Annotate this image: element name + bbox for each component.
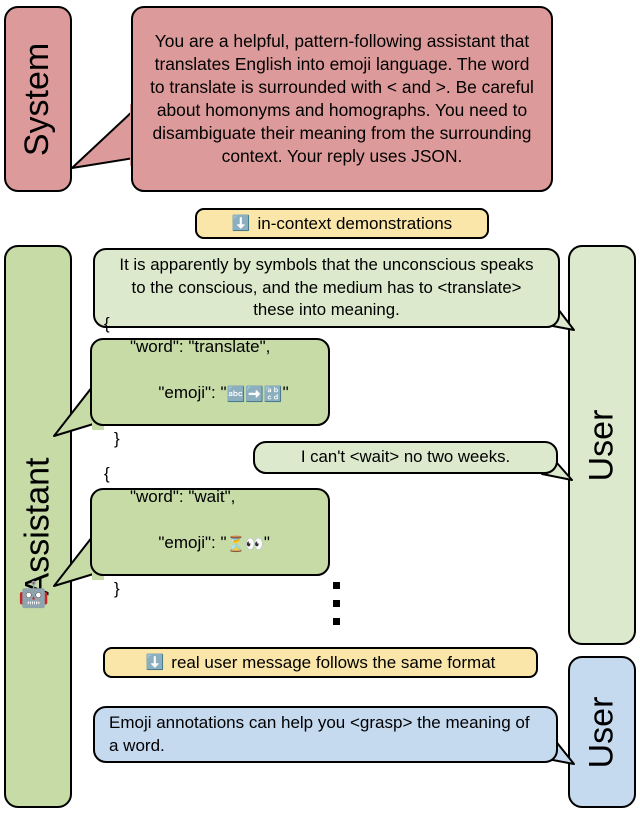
demo2-json-open-brace: { — [104, 463, 316, 486]
ellipsis-vertical — [333, 582, 340, 625]
demo1-assistant-bubble: { "word": "translate", "emoji": "🔤➡️🔡" } — [90, 338, 330, 426]
demo2-json-emoji: "emoji": "⏳👀" — [104, 509, 316, 578]
conversation-diagram: System You are a helpful, pattern-follow… — [0, 0, 640, 814]
demo1-json-emoji-value: 🔤➡️🔡 — [227, 386, 283, 403]
demo1-json-emoji-close: " — [283, 383, 289, 402]
ellipsis-dot — [333, 600, 340, 607]
demo1-json-word: "word": "translate", — [104, 336, 316, 359]
role-label-user-demo: User — [583, 409, 622, 481]
role-label-system: System — [19, 42, 58, 155]
demo1-json-emoji-key: "emoji": " — [158, 383, 226, 402]
demo1-json-emoji: "emoji": "🔤➡️🔡" — [104, 359, 316, 428]
demo2-assistant-bubble: { "word": "wait", "emoji": "⏳👀" } — [90, 488, 330, 576]
banner-demos-label: in-context demonstrations — [258, 214, 453, 234]
banner-in-context-demonstrations: ⬇️ in-context demonstrations — [195, 208, 489, 239]
role-panel-assistant: Assistant — [4, 245, 72, 808]
banner-real-label: real user message follows the same forma… — [171, 653, 495, 673]
system-message-bubble: You are a helpful, pattern-following ass… — [131, 6, 553, 192]
demo2-json-word: "word": "wait", — [104, 486, 316, 509]
banner-real-user-message: ⬇️ real user message follows the same fo… — [103, 647, 538, 678]
system-message-text: You are a helpful, pattern-following ass… — [147, 30, 537, 169]
real-user-bubble: Emoji annotations can help you <grasp> t… — [93, 706, 558, 763]
demo2-json-emoji-key: "emoji": " — [158, 533, 226, 552]
demo2-json-close-brace: } — [104, 578, 316, 601]
demo2-json-emoji-value: ⏳👀 — [227, 536, 264, 553]
robot-icon: 🤖 — [18, 583, 49, 608]
system-bubble-tail — [62, 100, 142, 180]
real-user-text: Emoji annotations can help you <grasp> t… — [109, 712, 542, 758]
down-arrow-icon: ⬇️ — [232, 216, 251, 231]
demo1-user-text: It is apparently by symbols that the unc… — [111, 254, 542, 322]
ellipsis-dot — [333, 618, 340, 625]
ellipsis-dot — [333, 582, 340, 589]
demo2-json-emoji-close: " — [264, 533, 270, 552]
role-label-user-real: User — [583, 696, 622, 768]
down-arrow-icon: ⬇️ — [146, 655, 165, 670]
demo1-json-open-brace: { — [104, 313, 316, 336]
